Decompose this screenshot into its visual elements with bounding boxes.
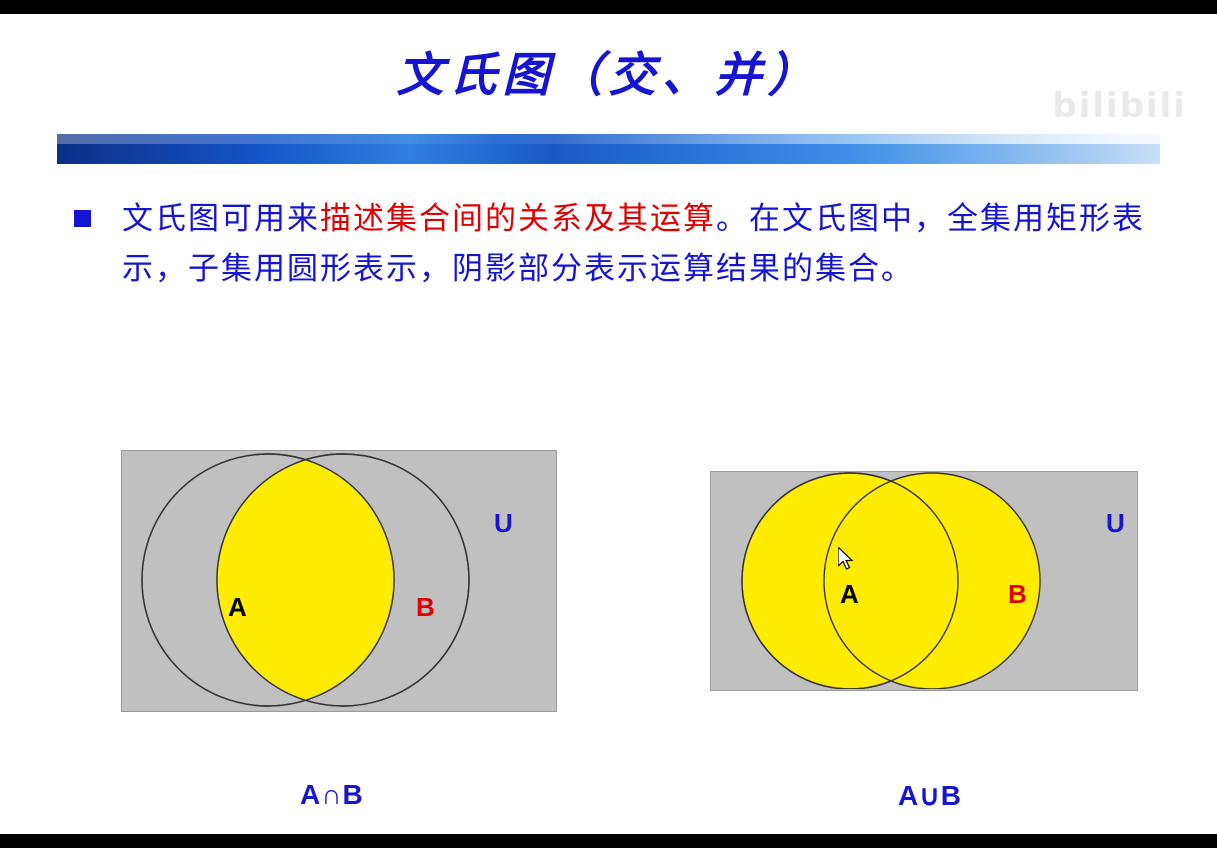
- body-paragraph: 文氏图可用来描述集合间的关系及其运算。在文氏图中，全集用矩形表示，子集用圆形表示…: [122, 194, 1192, 294]
- set-a-label-intersection: A: [228, 592, 247, 623]
- set-b-label-union: B: [1008, 579, 1027, 610]
- body-highlight: 描述集合间的关系及其运算: [320, 201, 716, 237]
- set-a-label-union: A: [840, 579, 859, 610]
- set-b-label-intersection: B: [416, 592, 435, 623]
- body-part-1: 文氏图可用来: [122, 201, 320, 237]
- page-title: 文氏图（交、并）: [0, 36, 1217, 105]
- bilibili-watermark: bilibili: [1052, 86, 1187, 126]
- slide-canvas: 文氏图（交、并） bilibili 文氏图可用来描述集合间的关系及其运算。在文氏…: [0, 14, 1217, 834]
- mouse-cursor: [838, 547, 856, 573]
- venn-shapes-union: [710, 471, 1136, 689]
- caption-union: A∪B: [898, 779, 962, 812]
- title-divider-bar: [57, 134, 1160, 164]
- caption-intersection: A∩B: [300, 779, 364, 811]
- universe-label-union: U: [1106, 508, 1125, 539]
- venn-shapes-intersection: [121, 450, 555, 710]
- universe-label-intersection: U: [494, 508, 513, 539]
- bullet-marker: [74, 210, 91, 227]
